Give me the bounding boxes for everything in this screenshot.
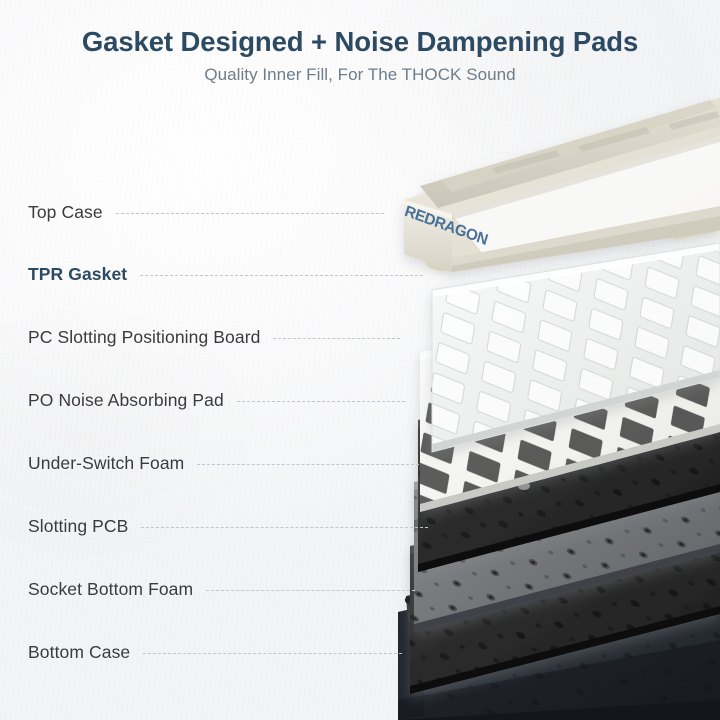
- callout-bottom-case: Bottom Case: [28, 642, 402, 663]
- callout-po-noise-absorbing-pad: PO Noise Absorbing Pad: [28, 390, 405, 411]
- leader-line: [206, 590, 415, 591]
- leader-line: [143, 653, 402, 654]
- callout-label: PO Noise Absorbing Pad: [28, 390, 224, 411]
- leader-line: [140, 275, 423, 276]
- product-infographic: REDRAGON Gasket Designed + Noise Dampeni…: [0, 0, 720, 720]
- callout-slotting-pcb: Slotting PCB: [28, 516, 428, 537]
- callout-top-case: Top Case: [28, 202, 384, 223]
- leader-line: [116, 213, 384, 214]
- callout-label: Bottom Case: [28, 642, 130, 663]
- header: Gasket Designed + Noise Dampening Pads Q…: [0, 0, 720, 86]
- callout-label: Top Case: [28, 202, 103, 223]
- exploded-keyboard-illustration: REDRAGON: [0, 0, 720, 720]
- callout-label: TPR Gasket: [28, 264, 127, 285]
- layer-top-case: REDRAGON: [403, 98, 720, 272]
- callout-label: Slotting PCB: [28, 516, 128, 537]
- leader-line: [197, 464, 419, 465]
- callout-pc-slotting-positioning-board: PC Slotting Positioning Board: [28, 327, 400, 348]
- leader-line: [237, 401, 405, 402]
- page-title: Gasket Designed + Noise Dampening Pads: [0, 0, 720, 58]
- callout-under-switch-foam: Under-Switch Foam: [28, 453, 419, 474]
- callout-label: Socket Bottom Foam: [28, 579, 193, 600]
- page-subtitle: Quality Inner Fill, For The THOCK Sound: [0, 58, 720, 85]
- leader-line: [141, 527, 428, 528]
- callout-socket-bottom-foam: Socket Bottom Foam: [28, 579, 415, 600]
- callout-label: PC Slotting Positioning Board: [28, 327, 260, 348]
- leader-line: [273, 338, 400, 339]
- callout-tpr-gasket: TPR Gasket: [28, 264, 423, 285]
- callout-label: Under-Switch Foam: [28, 453, 184, 474]
